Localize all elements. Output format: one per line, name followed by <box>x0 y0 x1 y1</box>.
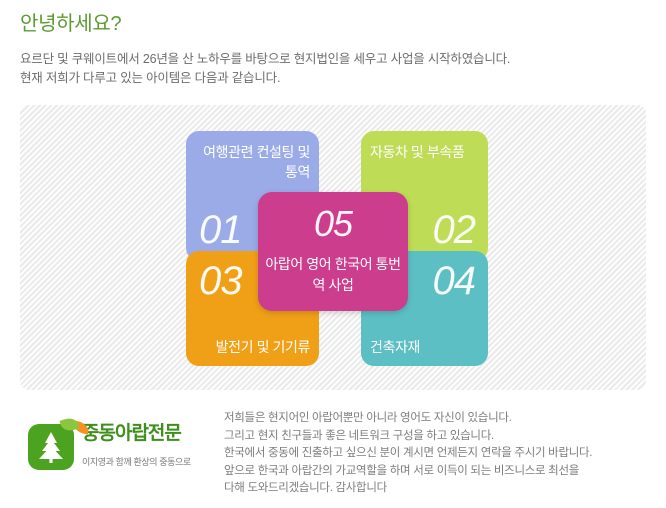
item-box-04-number: 04 <box>433 261 476 301</box>
footer-section: 중동아랍전문 이지영과 함께 환상의 중동으로 저희들은 현지어인 아랍어뿐만 … <box>20 404 646 500</box>
logo-name: 중동아랍전문 <box>82 422 212 446</box>
item-box-05-number: 05 <box>258 206 408 242</box>
about-line-4: 앞으로 한국과 아랍간의 가교역할을 하며 서로 이득이 되는 비즈니스로 최선… <box>224 463 644 481</box>
intro-line-1: 요르단 및 쿠웨이트에서 26년을 산 노하우를 바탕으로 현지법인을 세우고 … <box>20 50 646 69</box>
item-box-05[interactable]: 05 아랍어 영어 한국어 통번역 사업 <box>258 192 408 311</box>
items-panel: 여행관련 컨설팅 및 통역 01 자동차 및 부속품 02 03 발전기 및 기… <box>20 104 646 390</box>
intro-section: 안녕하세요? 요르단 및 쿠웨이트에서 26년을 산 노하우를 바탕으로 현지법… <box>20 12 646 88</box>
about-line-1: 저희들은 현지어인 아랍어뿐만 아니라 영어도 자신이 있습니다. <box>224 410 644 428</box>
pine-tree-icon <box>28 424 74 470</box>
page-title: 안녕하세요? <box>20 12 646 36</box>
item-box-03-number: 03 <box>199 261 242 301</box>
about-line-3: 한국에서 중동에 진출하고 싶으신 분이 계시면 언제든지 연락을 주시기 바랍… <box>224 445 644 463</box>
item-box-04-caption: 건축자재 <box>370 337 479 357</box>
about-text: 저희들은 현지어인 아랍어뿐만 아니라 영어도 자신이 있습니다. 그리고 현지… <box>224 410 644 498</box>
logo-tagline: 이지영과 함께 환상의 중동으로 <box>82 455 212 469</box>
item-box-02-caption: 자동차 및 부속품 <box>370 142 479 162</box>
logo-text-block: 중동아랍전문 이지영과 함께 환상의 중동으로 <box>82 422 212 469</box>
item-box-03-caption: 발전기 및 기기류 <box>195 337 310 357</box>
intro-line-2: 현재 저희가 다루고 있는 아이템은 다음과 같습니다. <box>20 69 646 88</box>
item-box-05-caption: 아랍어 영어 한국어 통번역 사업 <box>262 254 404 296</box>
item-box-01-number: 01 <box>199 210 242 250</box>
item-box-02-number: 02 <box>433 210 476 250</box>
about-line-5: 다해 도와드리겠습니다. 감사합니다 <box>224 480 644 498</box>
item-box-01-caption: 여행관련 컨설팅 및 통역 <box>195 142 310 182</box>
about-line-2: 그리고 현지 친구들과 좋은 네트워크 구성을 하고 있습니다. <box>224 428 644 446</box>
company-logo[interactable]: 중동아랍전문 이지영과 함께 환상의 중동으로 <box>28 418 213 480</box>
